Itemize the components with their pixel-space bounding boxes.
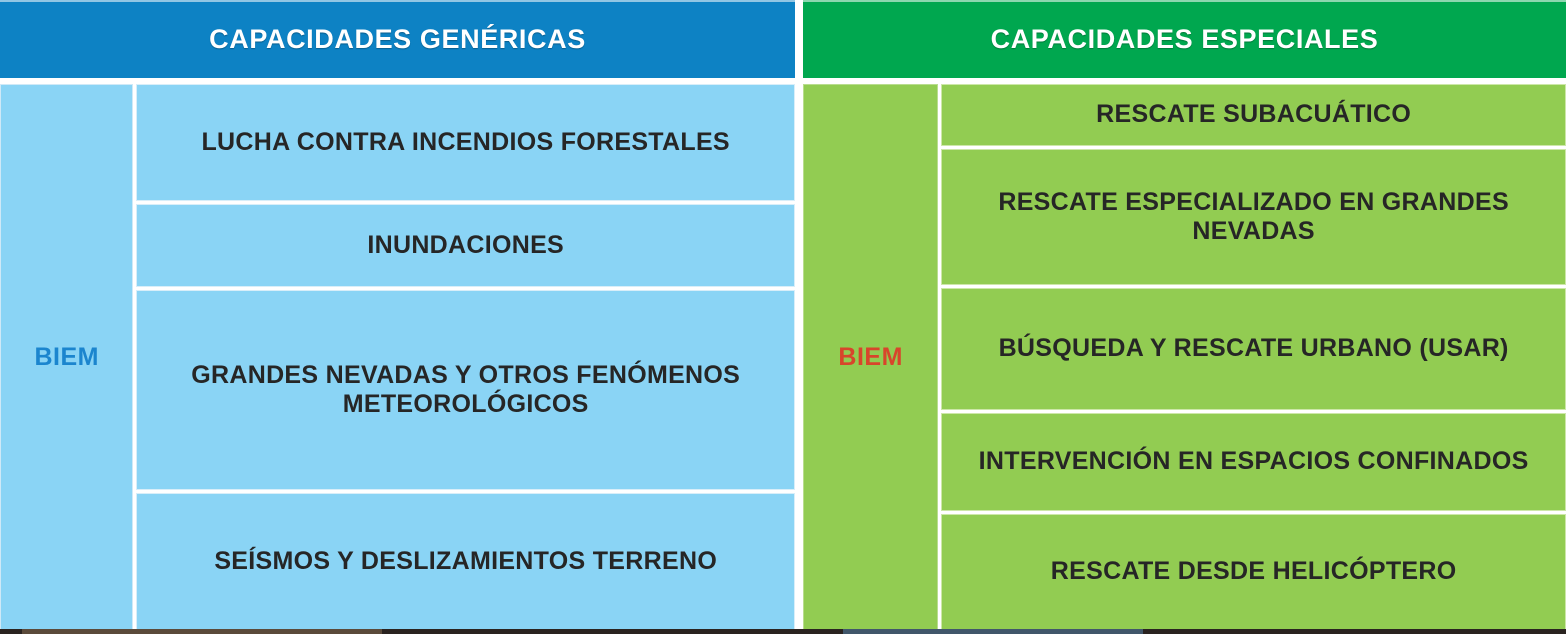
bottom-edge-strip [0,629,1566,634]
bottom-edge-segment-left [22,629,382,634]
capability-row: RESCATE DESDE HELICÓPTERO [941,514,1566,630]
special-capabilities-body: BIEM RESCATE SUBACUÁTICO RESCATE ESPECIA… [803,84,1566,630]
capabilities-diagram: CAPACIDADES GENÉRICAS BIEM LUCHA CONTRA … [0,0,1566,634]
special-capabilities-table: CAPACIDADES ESPECIALES BIEM RESCATE SUBA… [803,0,1566,630]
generic-unit-label-biem: BIEM [0,84,133,630]
capability-row: INUNDACIONES [136,204,795,287]
special-capabilities-header: CAPACIDADES ESPECIALES [803,0,1566,78]
capability-row: RESCATE SUBACUÁTICO [941,84,1566,146]
special-unit-label-biem: BIEM [803,84,938,630]
generic-capability-rows: LUCHA CONTRA INCENDIOS FORESTALES INUNDA… [136,84,795,630]
capability-row: GRANDES NEVADAS Y OTROS FENÓMENOS METEOR… [136,290,795,490]
special-capability-rows: RESCATE SUBACUÁTICO RESCATE ESPECIALIZAD… [941,84,1566,630]
capability-row: BÚSQUEDA Y RESCATE URBANO (USAR) [941,288,1566,410]
bottom-edge-segment-right [843,629,1143,634]
generic-capabilities-header: CAPACIDADES GENÉRICAS [0,0,795,78]
generic-capabilities-table: CAPACIDADES GENÉRICAS BIEM LUCHA CONTRA … [0,0,795,630]
capability-row: SEÍSMOS Y DESLIZAMIENTOS TERRENO [136,493,795,630]
capability-row: INTERVENCIÓN EN ESPACIOS CONFINADOS [941,413,1566,511]
capability-row: RESCATE ESPECIALIZADO EN GRANDES NEVADAS [941,149,1566,285]
capability-row: LUCHA CONTRA INCENDIOS FORESTALES [136,84,795,201]
generic-capabilities-body: BIEM LUCHA CONTRA INCENDIOS FORESTALES I… [0,84,795,630]
